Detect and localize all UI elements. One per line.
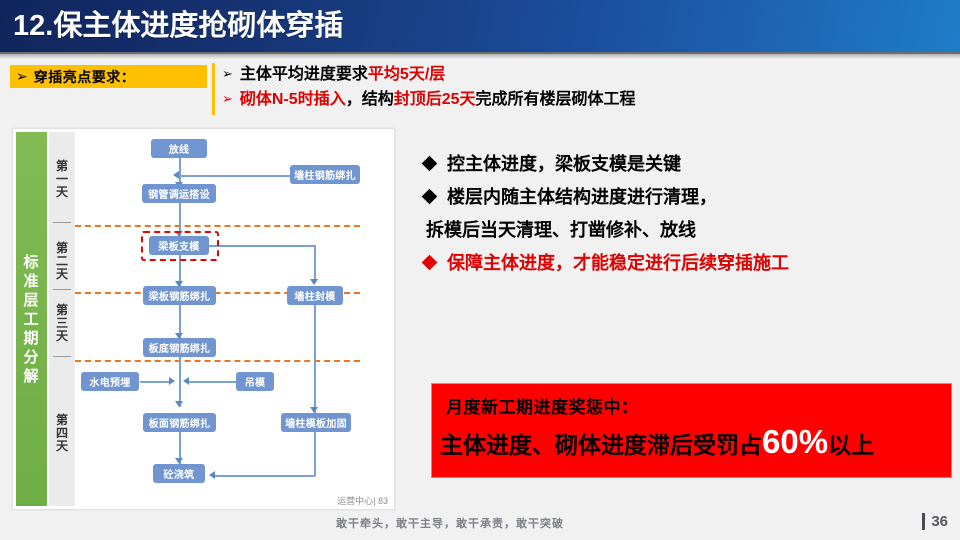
key-point-3-text: 保障主体进度，才能稳定进行后续穿插施工 xyxy=(447,251,789,275)
arrow-left-icon xyxy=(173,171,179,179)
flowchart-credit: 运营中心| 83 xyxy=(337,494,388,507)
requirement-band: ➢ 穿插亮点要求： ➢ 主体平均进度要求平均5天/层 ➢ 砌体N-5时插入，结构… xyxy=(0,63,960,117)
day-cell-3: 第三天 xyxy=(49,292,75,354)
flowchart-image: 标 准 层 工 期 分 解 第一天 第二天 第三天 第四天 xyxy=(12,128,395,510)
flow-node-shuidian: 水电预埋 xyxy=(81,372,139,391)
diamond-bullet-icon xyxy=(422,255,438,271)
flow-node-qiangzhu-fengmo: 墙柱封模 xyxy=(287,286,343,305)
day-separator-2 xyxy=(53,289,71,290)
callout-percentage: 60% xyxy=(762,429,828,455)
page-number-bar-icon xyxy=(922,513,925,530)
requirement-item-1-text: 主体平均进度要求平均5天/层 xyxy=(240,62,445,87)
requirement-item-1: ➢ 主体平均进度要求平均5天/层 xyxy=(222,62,952,87)
flow-node-diaomo: 吊模 xyxy=(236,372,274,391)
penalty-callout: 月度新工期进度奖惩中： 主体进度、砌体进度滞后受罚占60%以上 xyxy=(431,383,952,478)
day-cell-2: 第二天 xyxy=(49,227,75,295)
connector-fengmo-jiagu xyxy=(314,305,316,413)
arrow-left-icon xyxy=(209,471,215,479)
flow-node-bandi-gangjin: 板底钢筋绑扎 xyxy=(143,338,216,357)
flow-node-qiangzhu-gangjin: 墙柱钢筋绑扎 xyxy=(290,165,360,184)
band-char-4: 期 xyxy=(23,329,39,348)
day-separator-3 xyxy=(53,356,71,357)
key-point-1: 控主体进度，梁板支模是关键 xyxy=(424,152,954,176)
band-char-3: 工 xyxy=(23,310,39,329)
band-char-0: 标 xyxy=(23,253,39,272)
key-points-list: 控主体进度，梁板支模是关键 楼层内随主体结构进度进行清理， 拆模后当天清理、打凿… xyxy=(424,152,954,284)
flowchart-day-column: 第一天 第二天 第三天 第四天 xyxy=(49,132,75,506)
flowchart-canvas: 放线 墙柱钢筋绑扎 钢管调运搭设 梁板支模 梁板钢筋绑扎 墙柱封模 板底钢筋绑扎… xyxy=(75,129,394,509)
band-char-1: 准 xyxy=(23,272,39,291)
key-point-2-text: 楼层内随主体结构进度进行清理， xyxy=(447,185,717,209)
arrow-bullet-icon: ➢ xyxy=(16,70,28,84)
connector-diaomo-main xyxy=(188,381,236,383)
band-char-2: 层 xyxy=(23,291,39,310)
requirement-tag-label: 穿插亮点要求： xyxy=(34,67,136,87)
key-point-2: 楼层内随主体结构进度进行清理， xyxy=(424,185,954,209)
arrow-bullet-icon: ➢ xyxy=(222,87,233,112)
day-divider-line-1 xyxy=(75,225,360,227)
header-divider xyxy=(0,52,960,59)
connector-bandi-banmian xyxy=(179,357,181,407)
callout-body: 主体进度、砌体进度滞后受罚占60%以上 xyxy=(440,426,874,460)
flow-node-liangban-zhimo: 梁板支模 xyxy=(149,236,209,255)
requirement-tag: ➢ 穿插亮点要求： xyxy=(10,65,207,88)
connector-qiangzhugangjin-main xyxy=(179,175,292,177)
requirement-item-2: ➢ 砌体N-5时插入，结构封顶后25天完成所有楼层砌体工程 xyxy=(222,87,952,112)
page-title: 12.保主体进度抢砌体穿插 xyxy=(13,4,343,48)
connector-jiagu-tong-v xyxy=(314,432,316,476)
requirement-item-2-text: 砌体N-5时插入，结构封顶后25天完成所有楼层砌体工程 xyxy=(240,87,636,112)
arrow-left-icon xyxy=(183,377,189,385)
arrow-down-icon xyxy=(310,279,318,285)
arrow-down-icon xyxy=(175,401,183,407)
flow-node-gangguan: 钢管调运搭设 xyxy=(142,184,216,203)
key-point-3: 保障主体进度，才能稳定进行后续穿插施工 xyxy=(424,251,954,275)
arrow-right-icon xyxy=(169,377,175,385)
flow-node-banmian-gangjin: 板面钢筋绑扎 xyxy=(143,413,216,432)
key-point-2-continuation: 拆模后当天清理、打凿修补、放线 xyxy=(426,218,954,242)
callout-heading: 月度新工期进度奖惩中： xyxy=(446,393,639,418)
connector-zhimo-fengmo-v xyxy=(314,245,316,283)
page-number: 36 xyxy=(931,513,948,530)
flow-node-fangxian: 放线 xyxy=(151,139,207,158)
flowchart-band-label: 标 准 层 工 期 分 解 xyxy=(16,132,47,506)
key-point-1-text: 控主体进度，梁板支模是关键 xyxy=(447,152,681,176)
connector-shuidian-main xyxy=(140,381,172,383)
requirement-list: ➢ 主体平均进度要求平均5天/层 ➢ 砌体N-5时插入，结构封顶后25天完成所有… xyxy=(222,62,952,112)
flow-node-tongjiaozhu: 砼浇筑 xyxy=(153,464,205,483)
diamond-bullet-icon xyxy=(422,156,438,172)
connector-jiagu-tong-h xyxy=(215,475,315,477)
day-separator-1 xyxy=(53,222,71,223)
day-divider-line-3 xyxy=(75,360,360,362)
arrow-bullet-icon: ➢ xyxy=(222,62,233,87)
band-char-5: 分 xyxy=(23,348,39,367)
slide-header: 12.保主体进度抢砌体穿插 xyxy=(0,0,960,52)
flow-node-liangban-gangjin: 梁板钢筋绑扎 xyxy=(143,286,216,305)
page-number-badge: 36 xyxy=(922,513,948,530)
flow-node-qiangzhu-jiagu: 墙柱模板加固 xyxy=(281,413,351,432)
day-cell-4: 第四天 xyxy=(49,394,75,472)
footer-slogan: 敢干牵头，敢干主导，敢干承责，敢干突破 xyxy=(0,515,900,531)
diamond-bullet-icon xyxy=(422,189,438,205)
requirement-divider xyxy=(212,63,215,115)
band-char-6: 解 xyxy=(23,367,39,386)
callout-body-post: 以上 xyxy=(828,426,874,460)
day-cell-1: 第一天 xyxy=(49,140,75,218)
callout-body-pre: 主体进度、砌体进度滞后受罚占 xyxy=(440,426,762,460)
